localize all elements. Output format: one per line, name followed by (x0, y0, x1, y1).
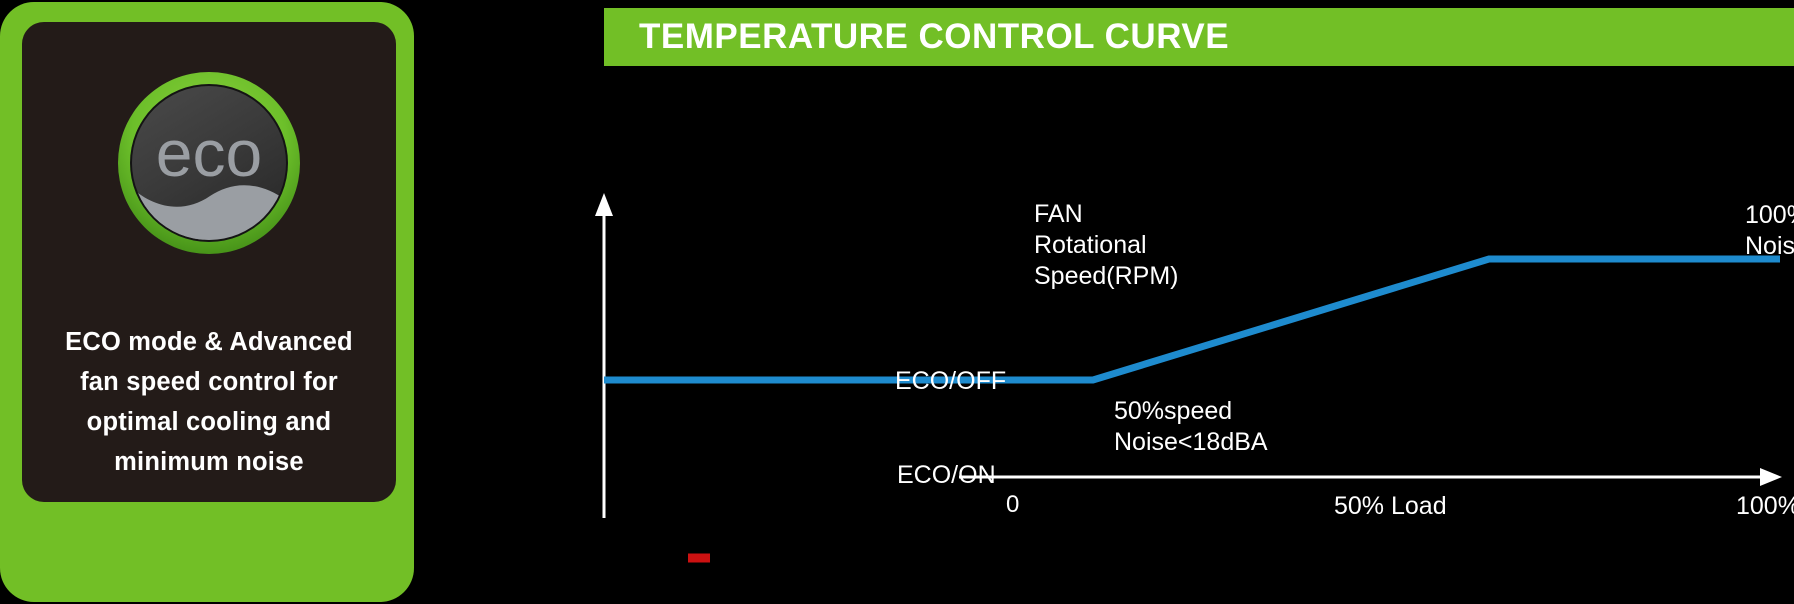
fan-speed-curve (604, 259, 1780, 380)
high-load-annotation-line-1: 100% Speed (1745, 201, 1794, 229)
y-axis-label-line-2: Rotational (1034, 231, 1147, 259)
eco-caption-line-2: fan speed control for (30, 362, 388, 402)
eco-wordmark: eco (156, 116, 262, 190)
x-axis (959, 468, 1782, 486)
eco-panel: eco ECO mode & Advanced fan speed contro… (0, 2, 414, 602)
eco-logo: eco (114, 68, 304, 258)
eco-panel-inner: eco ECO mode & Advanced fan speed contro… (22, 22, 396, 502)
temperature-control-chart: FANRotationalSpeed(RPM) ECO/OFF ECO/ON 0… (414, 0, 1794, 604)
eco-caption-line-1: ECO mode & Advanced (30, 322, 388, 362)
y-axis-label-line-1: FAN (1034, 200, 1083, 228)
high-load-annotation-line-2: Noise<28dBA (1745, 232, 1794, 260)
y-tick-eco-off: ECO/OFF (895, 366, 1006, 397)
y-axis-label-line-3: Speed(RPM) (1034, 262, 1179, 290)
low-load-annotation: 50%speedNoise<18dBA (1114, 396, 1268, 458)
eco-caption-line-4: minimum noise (30, 442, 388, 482)
low-load-annotation-line-1: 50%speed (1114, 397, 1232, 425)
y-tick-eco-on: ECO/ON (897, 460, 996, 491)
x-tick-zero: 0 (1006, 489, 1019, 520)
high-load-annotation: 100% SpeedNoise<28dBA (1745, 200, 1794, 262)
eco-caption-line-3: optimal cooling and (30, 402, 388, 442)
x-tick-100-load: 100% Load (1736, 491, 1794, 522)
eco-caption: ECO mode & Advanced fan speed control fo… (30, 322, 388, 482)
screenshot-root: eco ECO mode & Advanced fan speed contro… (0, 0, 1794, 604)
y-axis (595, 193, 613, 518)
y-axis-label: FANRotationalSpeed(RPM) (1034, 199, 1179, 292)
low-load-annotation-line-2: Noise<18dBA (1114, 428, 1268, 456)
x-tick-50-load: 50% Load (1334, 491, 1447, 522)
